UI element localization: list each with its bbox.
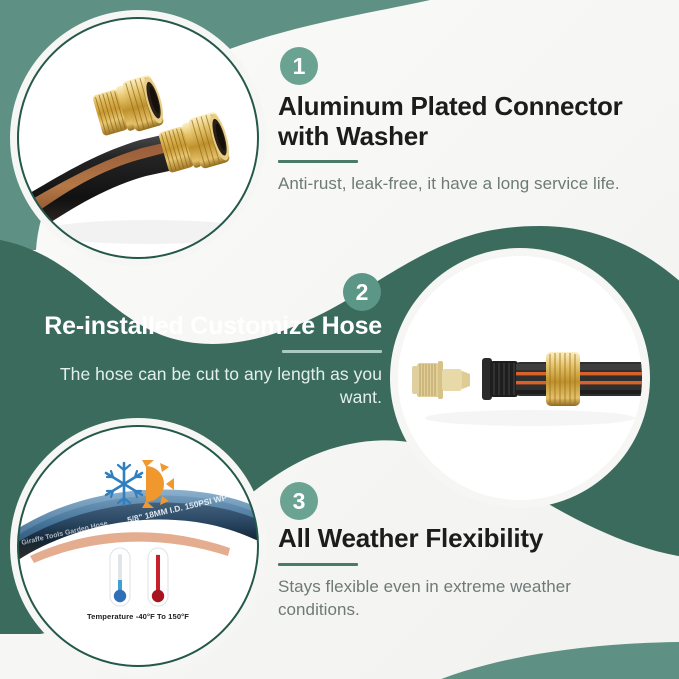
infographic-canvas: 5/8" 18MM I.D. 150PSI WP Giraffe Tools G… — [0, 0, 679, 679]
feature-heading-3: All Weather Flexibility — [278, 524, 656, 554]
feature-badge-3: 3 — [280, 482, 318, 520]
snowflake-icon — [106, 463, 142, 505]
thermometer-hot-icon — [148, 548, 168, 606]
temperature-label: Temperature -40°F To 150°F — [18, 612, 258, 621]
feature-text-3: All Weather Flexibility Stays flexible e… — [278, 524, 656, 622]
feature-subtext-1: Anti-rust, leak-free, it have a long ser… — [278, 173, 656, 196]
feature-rule-3 — [278, 563, 358, 566]
feature-badge-2: 2 — [343, 273, 381, 311]
thermometer-cold-icon — [110, 548, 130, 606]
feature-rule-1 — [278, 160, 358, 163]
feature-subtext-2: The hose can be cut to any length as you… — [30, 363, 382, 410]
snowflake-sun-icon — [102, 458, 176, 510]
feature-rule-2 — [282, 350, 382, 353]
feature-text-2: Re-installed Customize Hose The hose can… — [30, 312, 382, 410]
feature-subtext-3: Stays flexible even in extreme weather c… — [278, 576, 656, 622]
thermometer-pair — [96, 546, 184, 608]
feature-heading-2: Re-installed Customize Hose — [30, 312, 382, 341]
feature-badge-1: 1 — [280, 47, 318, 85]
sun-icon — [142, 460, 174, 508]
feature-text-1: Aluminum Plated Connector with Washer An… — [278, 92, 656, 196]
feature-heading-1: Aluminum Plated Connector with Washer — [278, 92, 656, 151]
all-weather-icon-layer: Temperature -40°F To 150°F — [16, 424, 260, 668]
